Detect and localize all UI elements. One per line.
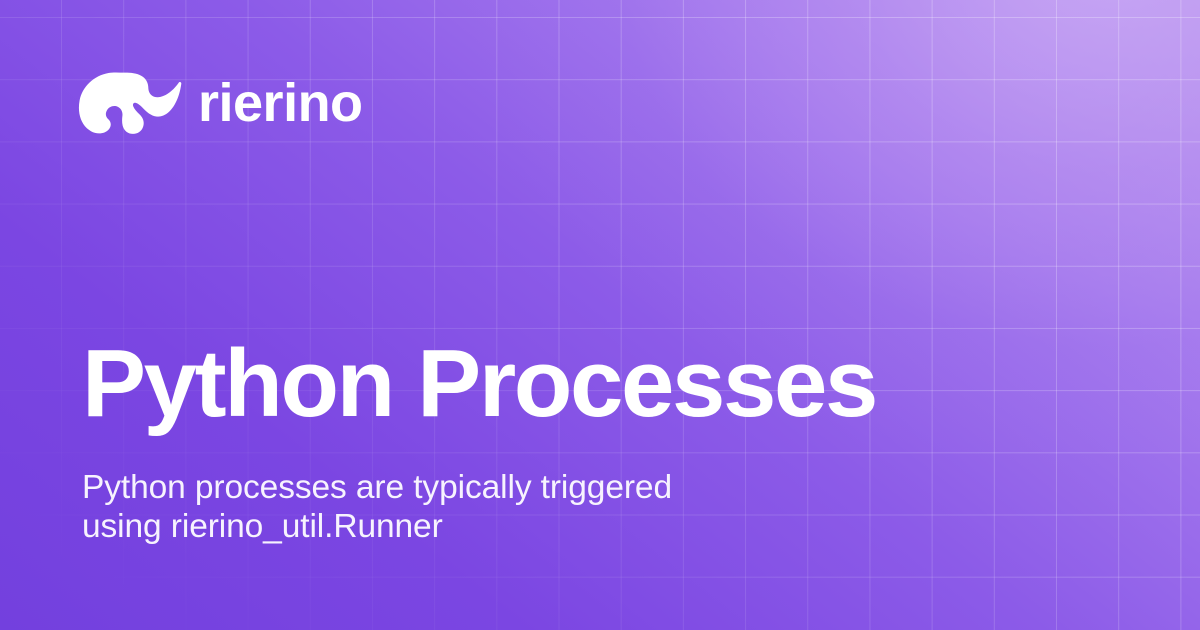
subtitle-line-2: using rierino_util.Runner	[82, 507, 672, 546]
brand-name: rierino	[198, 76, 363, 130]
rhino-icon	[78, 70, 182, 136]
subtitle-line-1: Python processes are typically triggered	[82, 468, 672, 507]
page-title: Python Processes	[82, 336, 876, 432]
brand-logo[interactable]: rierino	[78, 70, 363, 136]
social-card: rierino Python Processes Python processe…	[0, 0, 1200, 630]
page-subtitle: Python processes are typically triggered…	[82, 468, 672, 546]
